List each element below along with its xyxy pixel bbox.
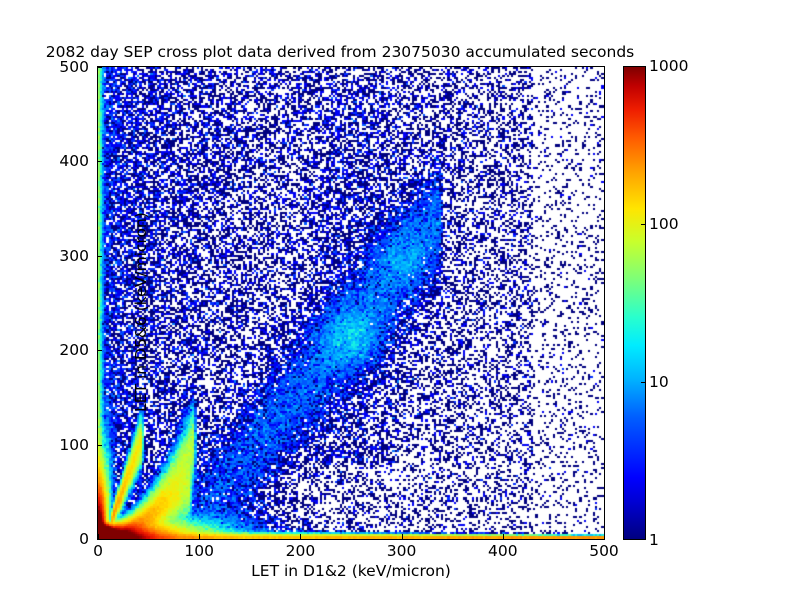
x-tick-mark [199,534,200,539]
y-tick-label: 400 [29,152,89,170]
colorbar-tick-mark [641,382,646,383]
y-tick-label: 200 [29,341,89,359]
x-tick-label: 400 [468,542,538,560]
y-tick-mark [97,256,102,257]
y-axis-label: LET in D5&6 (keV/micron) [132,75,150,549]
chart-page: 2082 day SEP cross plot data derived fro… [0,0,800,600]
x-tick-label: 300 [367,542,437,560]
x-axis-label: LET in D1&2 (keV/micron) [97,562,605,580]
x-tick-mark [503,534,504,539]
colorbar-tick-label: 100 [649,215,679,233]
x-tick-label: 200 [265,542,335,560]
colorbar-tick-label: 10 [649,373,669,391]
density-scatter-canvas [98,67,604,539]
y-tick-mark [97,539,102,540]
y-tick-label: 100 [29,436,89,454]
y-tick-mark [97,161,102,162]
x-tick-mark [604,534,605,539]
colorbar [623,66,646,540]
title-line-1: 2082 day SEP cross plot data derived fro… [0,43,680,62]
x-tick-label: 100 [164,542,234,560]
colorbar-tick-label: 1000 [649,57,688,75]
colorbar-tick-label: 1 [649,531,659,549]
x-tick-mark [402,534,403,539]
y-tick-label: 500 [29,58,89,76]
y-tick-mark [97,67,102,68]
colorbar-tick-mark [641,224,646,225]
y-tick-mark [97,350,102,351]
y-tick-mark [97,445,102,446]
y-tick-label: 300 [29,247,89,265]
x-tick-label: 500 [569,542,639,560]
x-tick-mark [300,534,301,539]
plot-area [97,66,605,540]
y-tick-label: 0 [29,530,89,548]
